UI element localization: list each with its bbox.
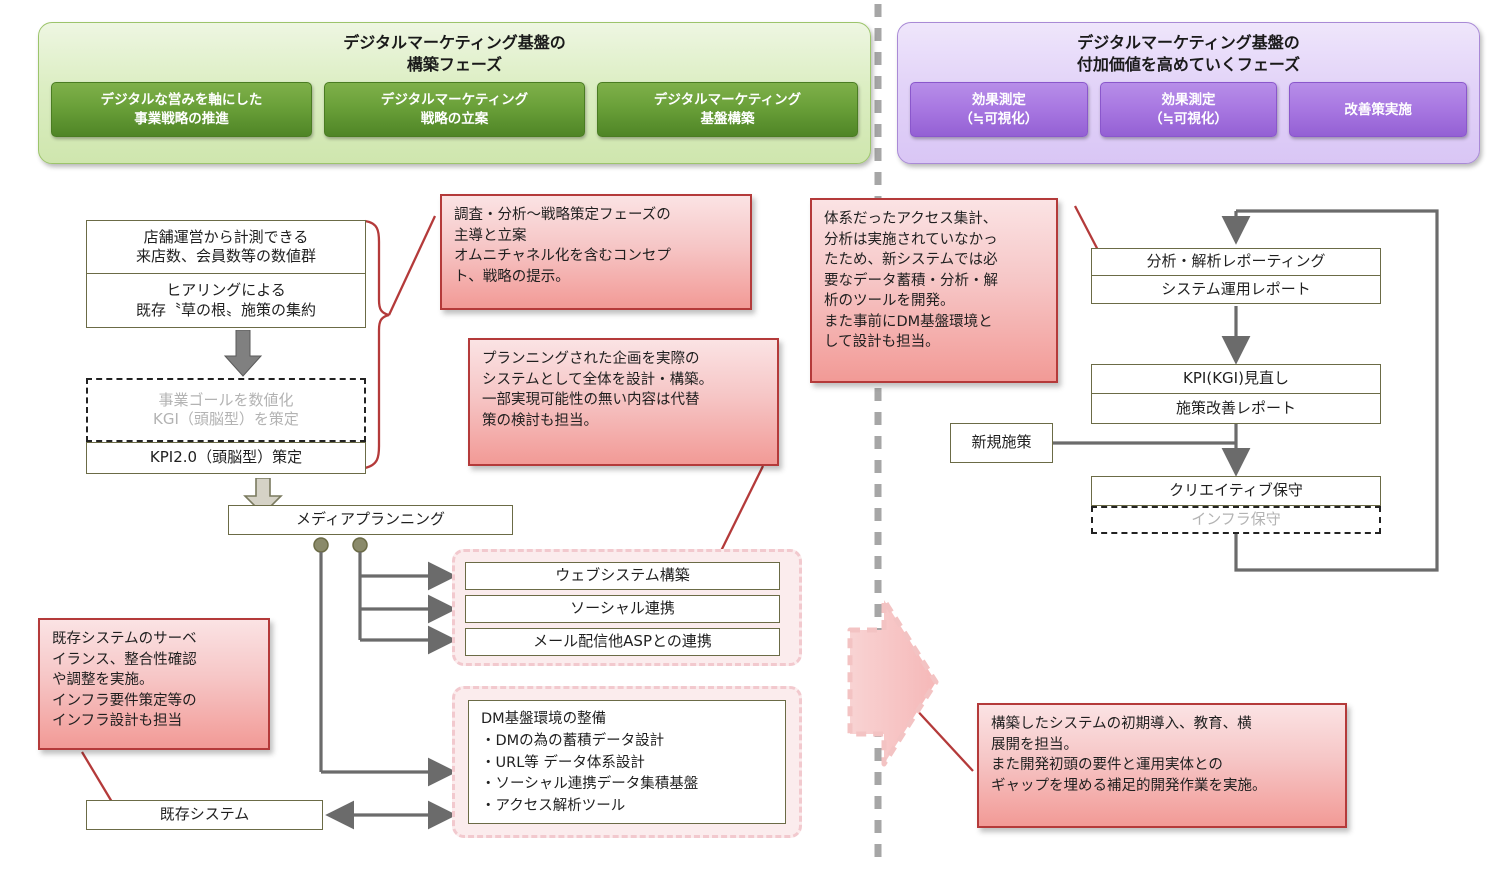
right-phase-chip-3[interactable]: 改善策実施 bbox=[1289, 82, 1467, 137]
right-phase-chip-2[interactable]: 効果測定 （≒可視化） bbox=[1100, 82, 1278, 137]
analytics-callout-leader bbox=[1075, 206, 1100, 254]
diagram-canvas: デジタルマーケティング基盤の 構築フェーズ デジタルな営みを軸にした 事業戦略の… bbox=[0, 0, 1503, 869]
right-phase-panel: デジタルマーケティング基盤の 付加価値を高めていくフェーズ 効果測定 （≒可視化… bbox=[897, 22, 1480, 164]
callout-rollout[interactable]: 構築したシステムの初期導入、教育、横 展開を担当。 また開発初頭の要件と運用実体… bbox=[977, 703, 1347, 828]
measure-improve-report-box[interactable]: 施策改善レポート bbox=[1091, 394, 1381, 424]
media-planning-junctions bbox=[314, 538, 367, 552]
callout-strategy[interactable]: 調査・分析～戦略策定フェーズの 主導と立案 オムニチャネル化を含むコンセプ ト、… bbox=[440, 194, 752, 310]
creative-maintenance-box[interactable]: クリエイティブ保守 bbox=[1091, 476, 1381, 506]
media-planning-box[interactable]: メディアプランニング bbox=[228, 505, 513, 535]
right-phase-title: デジタルマーケティング基盤の 付加価値を高めていくフェーズ bbox=[898, 23, 1479, 76]
existing-system-box[interactable]: 既存システム bbox=[86, 800, 323, 830]
right-phase-chip-1[interactable]: 効果測定 （≒可視化） bbox=[910, 82, 1088, 137]
report-operations-box[interactable]: システム運用レポート bbox=[1091, 276, 1381, 304]
callout-build[interactable]: プランニングされた企画を実際の システムとして全体を設計・構築。 一部実現可能性… bbox=[468, 338, 779, 466]
left-phase-panel: デジタルマーケティング基盤の 構築フェーズ デジタルな営みを軸にした 事業戦略の… bbox=[38, 22, 871, 164]
left-phase-title: デジタルマーケティング基盤の 構築フェーズ bbox=[39, 23, 870, 76]
build-item-mail-asp[interactable]: メール配信他ASPとの連携 bbox=[465, 628, 780, 656]
kpi-review-box[interactable]: KPI(KGI)見直し bbox=[1091, 364, 1381, 394]
left-flow-arrows bbox=[321, 552, 455, 815]
right-block-arrow-icon bbox=[832, 582, 942, 782]
build-callout-leader bbox=[721, 466, 763, 551]
build-item-web[interactable]: ウェブシステム構築 bbox=[465, 562, 780, 590]
kpi20-box[interactable]: KPI2.0（頭脳型）策定 bbox=[86, 442, 366, 474]
measure-box[interactable]: 店舗運営から計測できる 来店数、会員数等の数値群 bbox=[86, 220, 366, 274]
right-phase-chip-row: 効果測定 （≒可視化） 効果測定 （≒可視化） 改善策実施 bbox=[898, 82, 1479, 137]
report-analysis-box[interactable]: 分析・解析レポーティング bbox=[1091, 248, 1381, 276]
infra-maintenance-ghost-box: インフラ保守 bbox=[1091, 506, 1381, 534]
hearing-box[interactable]: ヒアリングによる 既存〝草の根〟施策の集約 bbox=[86, 274, 366, 328]
kgi-ghost-box: 事業ゴールを数値化 KGI（頭脳型）を策定 bbox=[86, 378, 366, 442]
left-phase-chip-3[interactable]: デジタルマーケティング 基盤構築 bbox=[597, 82, 858, 137]
build-item-social[interactable]: ソーシャル連携 bbox=[465, 595, 780, 623]
left-phase-chip-1[interactable]: デジタルな営みを軸にした 事業戦略の推進 bbox=[51, 82, 312, 137]
left-phase-chip-2[interactable]: デジタルマーケティング 戦略の立案 bbox=[324, 82, 585, 137]
dm-platform-box[interactable]: DM基盤環境の整備 ・DMの為の蓄積データ設計 ・URL等 データ体系設計 ・ソ… bbox=[468, 700, 786, 824]
new-measure-box[interactable]: 新規施策 bbox=[950, 423, 1053, 463]
callout-analytics[interactable]: 体系だったアクセス集計、 分析は実施されていなかっ たため、新システムでは必 要… bbox=[810, 198, 1058, 383]
left-phase-chip-row: デジタルな営みを軸にした 事業戦略の推進 デジタルマーケティング 戦略の立案 デ… bbox=[39, 82, 870, 137]
callout-infra[interactable]: 既存システムのサーベ イランス、整合性確認 や調整を実施。 インフラ要件策定等の… bbox=[38, 618, 270, 750]
down-block-arrow-icon bbox=[223, 330, 263, 378]
left-brace bbox=[365, 216, 435, 468]
